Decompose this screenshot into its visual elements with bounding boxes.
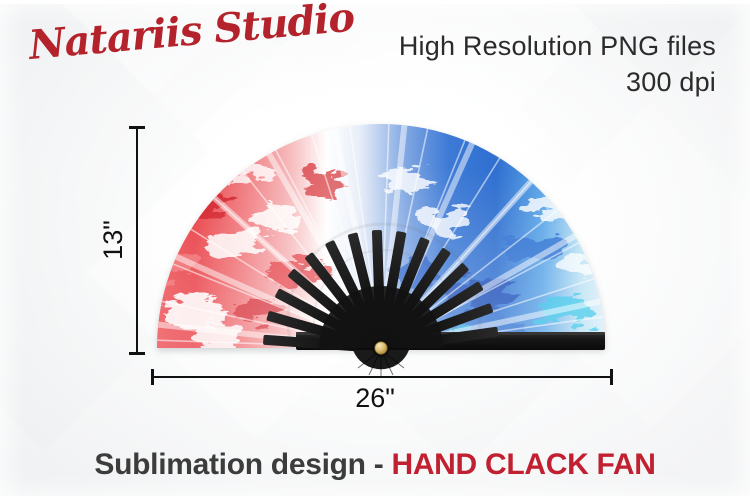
footer-product-name: HAND CLACK FAN	[391, 448, 655, 481]
hand-clack-fan-product	[148, 124, 618, 372]
width-dimension-line	[151, 376, 613, 378]
header-line-dpi: 300 dpi	[316, 64, 716, 100]
dimension-tick-icon-bottom	[129, 352, 145, 355]
rivet-icon	[373, 340, 390, 357]
header-line-resolution: High Resolution PNG files	[316, 28, 716, 64]
background-top-strip	[0, 0, 750, 4]
footer-caption: Sublimation design - HAND CLACK FAN	[0, 448, 750, 482]
fan-illustration	[148, 124, 618, 372]
height-dimension-label: 13"	[81, 223, 145, 257]
dimension-tick-icon-top	[129, 126, 145, 129]
background-bottom-strip	[0, 496, 750, 500]
header-specs: High Resolution PNG files 300 dpi	[316, 28, 716, 100]
width-dimension-label: 26"	[0, 383, 750, 414]
product-mockup-canvas: Natariis Studio High Resolution PNG file…	[0, 0, 750, 500]
footer-prefix: Sublimation design -	[94, 448, 391, 481]
